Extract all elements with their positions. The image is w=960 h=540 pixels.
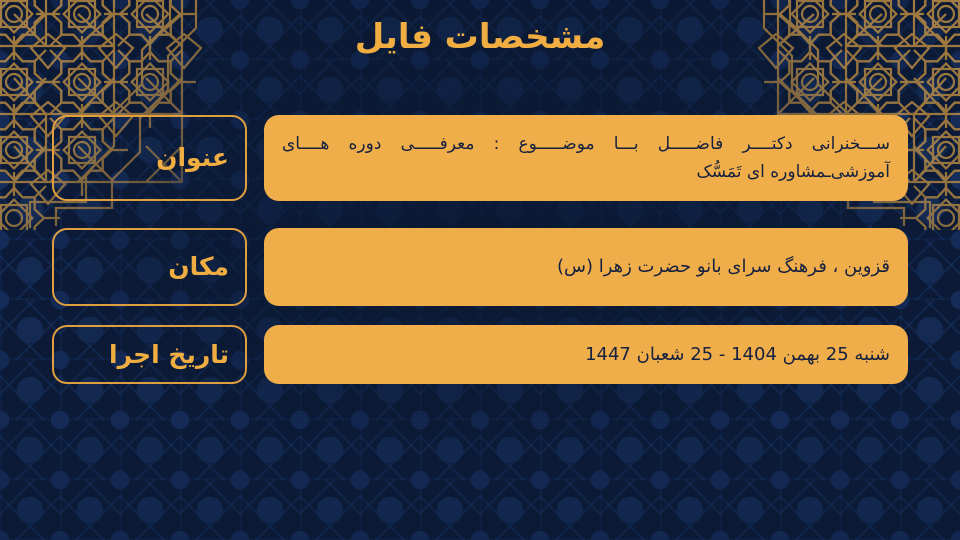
value-text-title: ســـخنرانی دکتــــر فاضـــــل بـــا موضـ… xyxy=(282,130,890,186)
slide-title: مشخصات فایل xyxy=(0,16,960,59)
label-box-location: مکان xyxy=(52,228,247,306)
info-row-title: ســـخنرانی دکتــــر فاضـــــل بـــا موضـ… xyxy=(52,115,908,201)
value-text-location: قزوین ، فرهنگ سرای بانو حضرت زهرا (س) xyxy=(282,252,890,282)
value-text-date: شنبه 25 بهمن 1404 - 25 شعبان 1447 xyxy=(282,340,890,370)
label-text-date: تاریخ اجرا xyxy=(109,340,229,370)
label-text-location: مکان xyxy=(168,252,229,282)
info-row-location: قزوین ، فرهنگ سرای بانو حضرت زهرا (س) مک… xyxy=(52,228,908,306)
value-box-location: قزوین ، فرهنگ سرای بانو حضرت زهرا (س) xyxy=(264,228,908,306)
label-box-title: عنوان xyxy=(52,115,247,201)
value-box-title: ســـخنرانی دکتــــر فاضـــــل بـــا موضـ… xyxy=(264,115,908,201)
value-box-date: شنبه 25 بهمن 1404 - 25 شعبان 1447 xyxy=(264,325,908,384)
label-text-title: عنوان xyxy=(156,143,229,173)
info-row-date: شنبه 25 بهمن 1404 - 25 شعبان 1447 تاریخ … xyxy=(52,325,908,384)
slide-root: مشخصات فایل ســـخنرانی دکتــــر فاضـــــ… xyxy=(0,0,960,540)
label-box-date: تاریخ اجرا xyxy=(52,325,247,384)
